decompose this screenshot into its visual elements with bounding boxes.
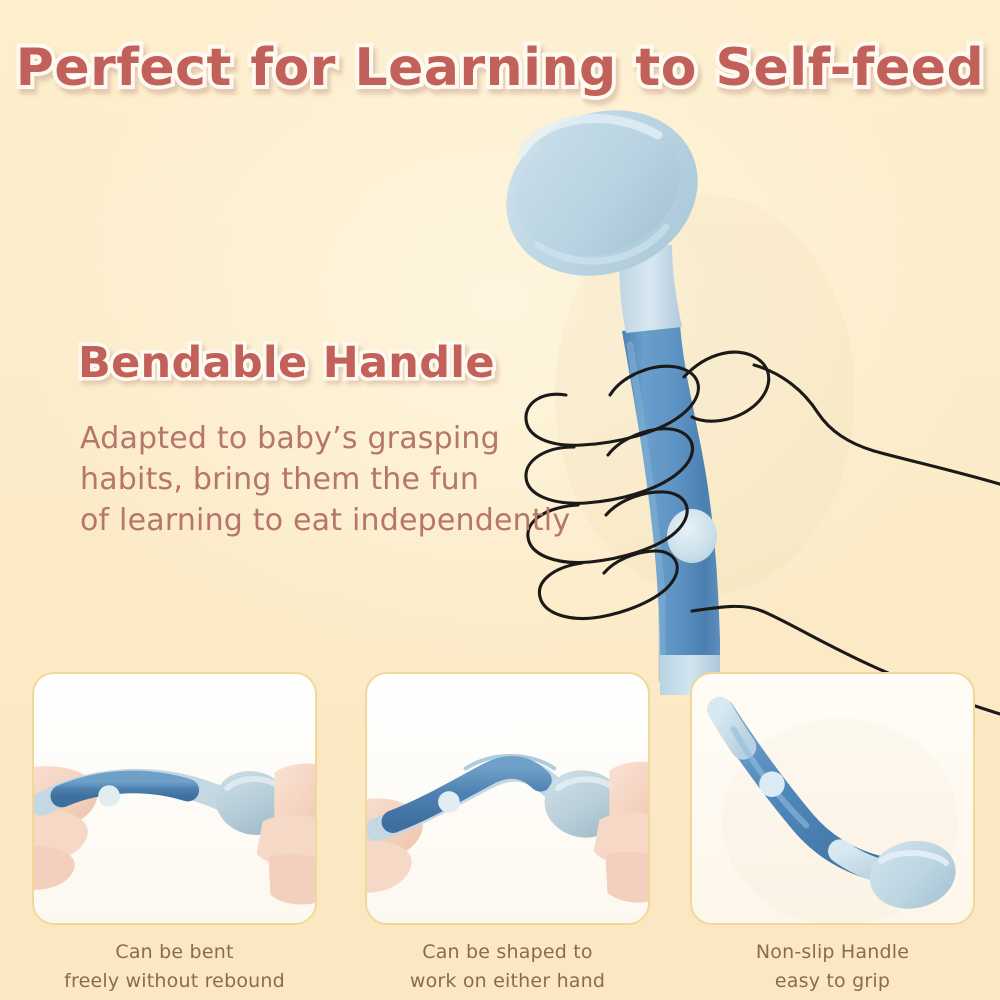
- handle-grip-dot: [98, 785, 120, 807]
- caption-shape-line-1: Can be shaped to: [365, 938, 650, 967]
- handle-grip-dot: [438, 791, 460, 813]
- caption-card-bend: Can be bent freely without rebound: [32, 938, 317, 996]
- card-grip-photo: [692, 674, 973, 923]
- caption-card-grip: Non-slip Handle easy to grip: [690, 938, 975, 996]
- feature-subtitle: Bendable Handle: [78, 338, 495, 388]
- caption-card-shape: Can be shaped to work on either hand: [365, 938, 650, 996]
- feature-card-shape: [365, 672, 650, 925]
- card-shape-photo: [367, 674, 648, 923]
- feature-description-line-2: habits, bring them the fun: [80, 459, 660, 500]
- feature-card-grip: [690, 672, 975, 925]
- caption-shape-line-2: work on either hand: [365, 967, 650, 996]
- feature-description-line-3: of learning to eat independently: [80, 500, 660, 541]
- page-title: Perfect for Learning to Self-feed: [0, 38, 1000, 98]
- feature-description: Adapted to baby’s grasping habits, bring…: [80, 418, 660, 541]
- handle-grip-dot: [667, 509, 717, 563]
- handle-grip-dot: [759, 771, 785, 797]
- hero-spoon-illustration: [470, 95, 1000, 695]
- caption-grip-line-2: easy to grip: [690, 967, 975, 996]
- product-infographic: Perfect for Learning to Self-feed: [0, 0, 1000, 1000]
- feature-description-line-1: Adapted to baby’s grasping: [80, 418, 660, 459]
- caption-bend-line-1: Can be bent: [32, 938, 317, 967]
- card-bend-photo: [34, 674, 315, 923]
- caption-grip-line-1: Non-slip Handle: [690, 938, 975, 967]
- feature-card-bend: [32, 672, 317, 925]
- caption-bend-line-2: freely without rebound: [32, 967, 317, 996]
